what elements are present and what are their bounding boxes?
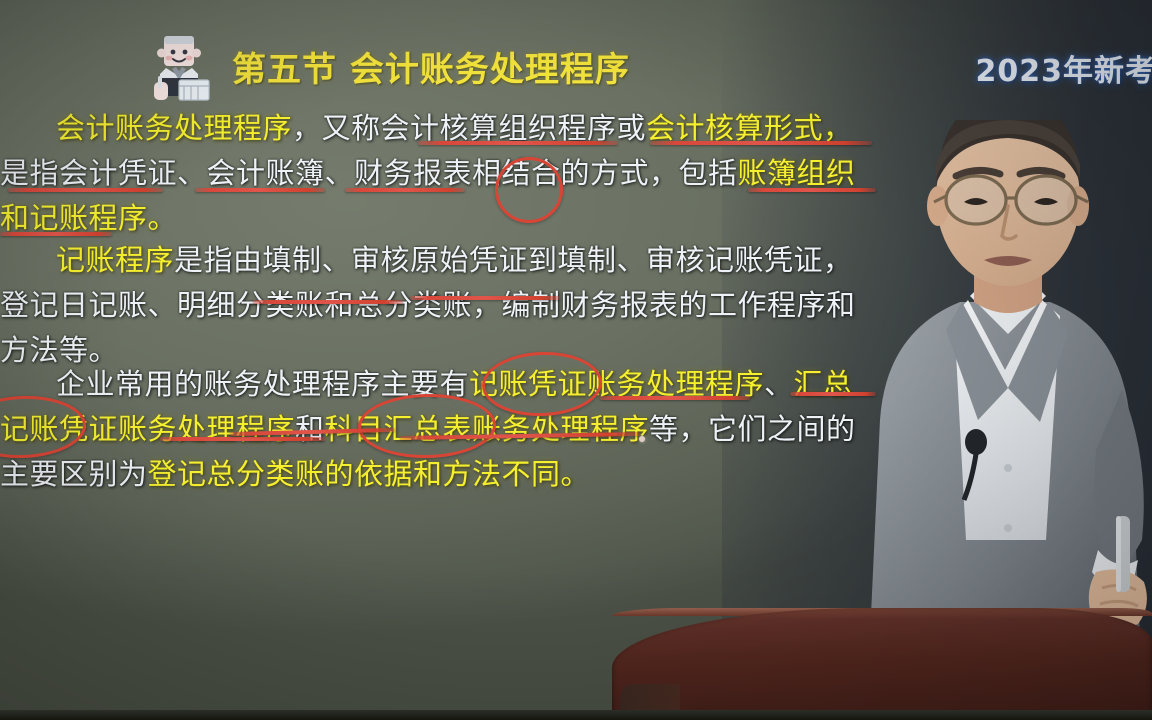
paragraph-3-line-2: 记账凭证账务处理程序和科目汇总表账务处理程序等，它们之间的: [0, 407, 856, 452]
paragraph-1: 会计账务处理程序，又称会计核算组织程序或会计核算形式， 是指会计凭证、会计账簿、…: [0, 106, 856, 241]
slide-title-row: 第五节 会计账务处理程序: [146, 30, 630, 102]
accountant-mascot-icon: [146, 30, 218, 102]
paragraph-3-line-3: 主要区别为登记总分类账的依据和方法不同。: [0, 452, 856, 497]
paragraph-1-line-1: 会计账务处理程序，又称会计核算组织程序或会计核算形式，: [0, 106, 856, 151]
paragraph-2: 记账程序是指由填制、审核原始凭证到填制、审核记账凭证， 登记日记账、明细分类账和…: [0, 238, 856, 373]
paragraph-2-line-1: 记账程序是指由填制、审核原始凭证到填制、审核记账凭证，: [0, 238, 856, 283]
paragraph-1-line-3: 和记账程序。: [0, 196, 856, 241]
paragraph-1-line-2: 是指会计凭证、会计账簿、财务报表相结合的方式，包括账簿组织: [0, 151, 856, 196]
paragraph-2-line-2: 登记日记账、明细分类账和总分类账，编制财务报表的工作程序和: [0, 283, 856, 328]
watermark-text: 2023年新考: [976, 46, 1152, 90]
bottom-letterbox-bar: [0, 710, 1152, 720]
slide-title: 第五节 会计账务处理程序: [232, 42, 630, 91]
paragraph-3-line-1: 企业常用的账务处理程序主要有记账凭证账务处理程序、汇总: [0, 362, 856, 407]
slide-content: 第五节 会计账务处理程序 会计账务处理程序，又称会计核算组织程序或会计核算形式，…: [0, 0, 890, 500]
video-player-frame: 第五节 会计账务处理程序 会计账务处理程序，又称会计核算组织程序或会计核算形式，…: [0, 0, 1152, 720]
podium: [612, 608, 1152, 720]
paragraph-3: 企业常用的账务处理程序主要有记账凭证账务处理程序、汇总 记账凭证账务处理程序和科…: [0, 362, 856, 497]
